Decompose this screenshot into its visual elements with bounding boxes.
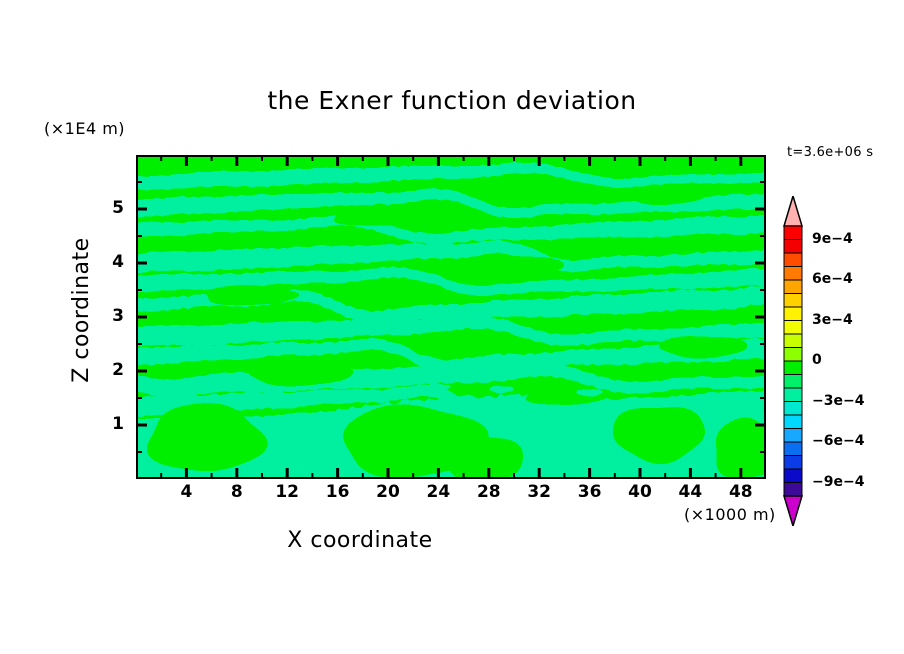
colorbar-tick-label: 6e−4	[812, 271, 853, 287]
colorbar-swatches	[778, 196, 808, 526]
y-tick-label: 1	[90, 414, 124, 434]
y-tick-label: 5	[90, 198, 124, 218]
x-axis-unit-label: (×1000 m)	[684, 505, 776, 524]
y-axis-unit-label: (×1E4 m)	[44, 119, 125, 138]
colorbar-tick-label: 0	[812, 352, 822, 368]
colorbar-tick-label: 3e−4	[812, 312, 853, 328]
contour-field	[136, 155, 766, 479]
y-tick-label: 4	[90, 252, 124, 272]
x-axis-title: X coordinate	[0, 528, 720, 553]
time-annotation: t=3.6e+06 s	[787, 145, 873, 160]
colorbar-tick-label: −6e−4	[812, 433, 864, 449]
x-tick-label: 48	[711, 482, 771, 502]
contour-plot-area	[136, 155, 766, 479]
colorbar[interactable]	[778, 196, 808, 526]
colorbar-tick-label: 9e−4	[812, 231, 853, 247]
colorbar-tick-label: −9e−4	[812, 474, 864, 490]
y-tick-label: 2	[90, 360, 124, 380]
page-title: the Exner function deviation	[0, 86, 904, 115]
y-tick-label: 3	[90, 306, 124, 326]
colorbar-tick-label: −3e−4	[812, 393, 864, 409]
